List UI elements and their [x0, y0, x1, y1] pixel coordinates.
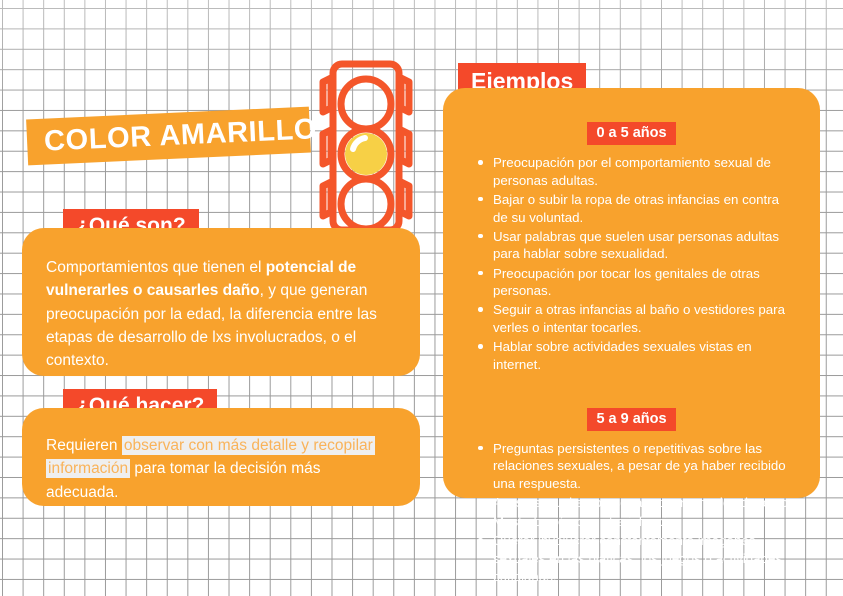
page-title-band: COLOR AMARILLO [26, 107, 311, 166]
age-badge-row: 0 a 5 años [463, 122, 800, 145]
list-item: Acoso sexual en persona o por mensajes d… [477, 494, 796, 512]
example-list: Preguntas persistentes o repetitivas sob… [463, 440, 800, 586]
ejemplos-group-list: 0 a 5 añosPreocupación por el comportami… [463, 122, 800, 585]
page-title: COLOR AMARILLO [43, 113, 317, 158]
list-item: Bajar o subir la ropa de otras infancias… [477, 191, 796, 226]
age-badge-row: 5 a 9 años [463, 408, 800, 431]
list-item: Hablar sobre actividades sexuales vistas… [477, 338, 796, 373]
example-list: Preocupación por el comportamiento sexua… [463, 154, 800, 374]
infographic-canvas: COLOR AMARILLO [0, 0, 843, 596]
list-item: Usar palabras que suelen usar personas a… [477, 228, 796, 263]
list-item: Preguntas persistentes o repetitivas sob… [477, 440, 796, 493]
list-item: Seguir a otras infancias al baño o vesti… [477, 301, 796, 336]
age-badge: 5 a 9 años [587, 408, 675, 431]
list-item: Preocupación por tocar los genitales de … [477, 265, 796, 300]
que-hacer-body: Requieren observar con más detalle y rec… [46, 434, 396, 504]
list-item: Preocupación por el comportamiento sexua… [477, 154, 796, 189]
body-text: Comportamientos que tienen el [46, 259, 266, 276]
traffic-light-icon [311, 56, 425, 244]
body-text: Requieren [46, 437, 122, 454]
panel-que-hacer: Requieren observar con más detalle y rec… [22, 408, 420, 506]
panel-que-son: Comportamientos que tienen el potencial … [22, 228, 420, 376]
panel-ejemplos: 0 a 5 añosPreocupación por el comportami… [443, 88, 820, 498]
age-badge: 0 a 5 años [587, 122, 675, 145]
que-son-body: Comportamientos que tienen el potencial … [46, 256, 396, 372]
list-item: Querer involucrar constantemente imágene… [477, 532, 796, 585]
list-item: Masturbación con otra infancia. [477, 513, 796, 531]
